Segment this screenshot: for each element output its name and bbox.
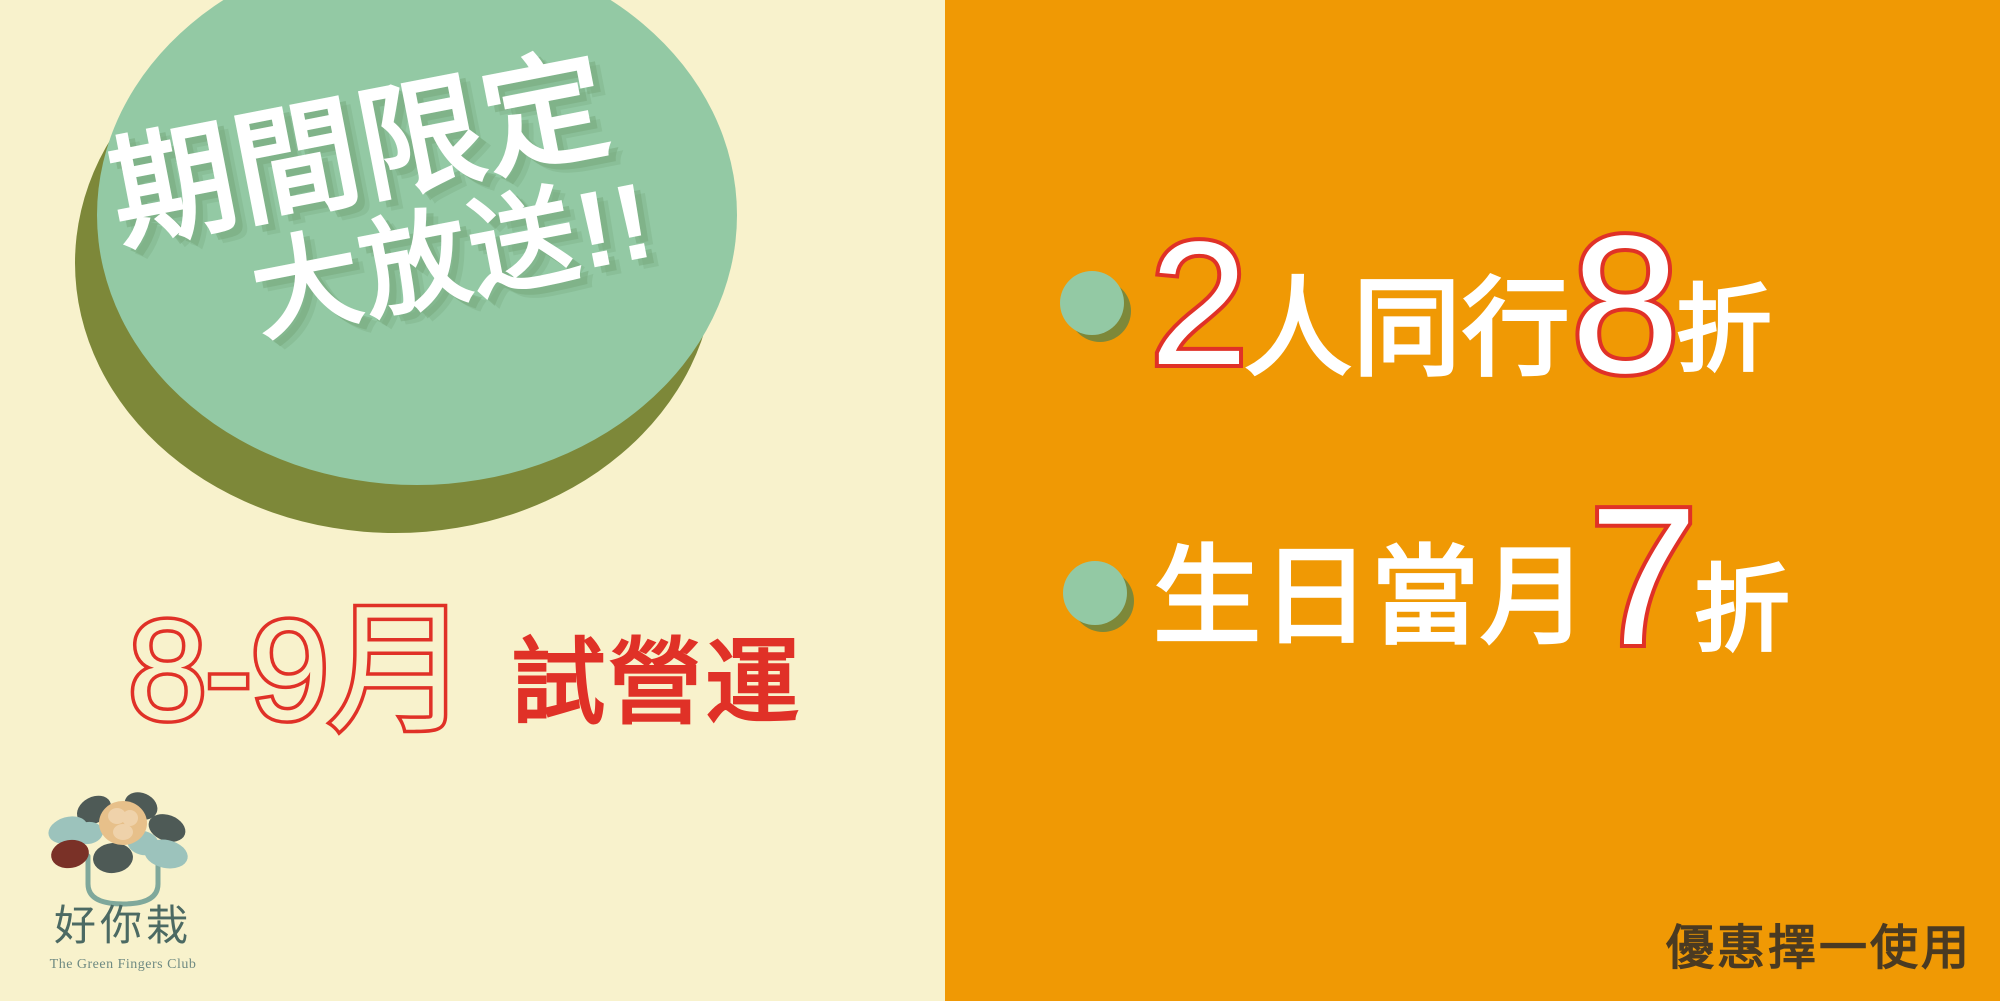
promotional-banner: 期間限定 大放送!! 8-9月 試營運 bbox=[0, 0, 2000, 1001]
circle-badge: 期間限定 大放送!! bbox=[75, 0, 755, 535]
offer-list: 2 人同行 8 折 生日當月 7 折 bbox=[945, 215, 2000, 686]
offer-item-group-discount: 2 人同行 8 折 bbox=[1060, 215, 2000, 395]
logo-english-name: The Green Fingers Club bbox=[28, 958, 218, 972]
left-panel: 期間限定 大放送!! 8-9月 試營運 bbox=[0, 0, 945, 1001]
offer-1-quantity: 2 bbox=[1150, 224, 1244, 386]
date-range-text: 8-9月 bbox=[128, 600, 467, 742]
succulent-plant-icon bbox=[28, 788, 218, 914]
bullet-circle bbox=[1063, 561, 1127, 625]
offer-1-unit: 折 bbox=[1676, 283, 1773, 379]
brand-logo: 好你栽 The Green Fingers Club bbox=[28, 788, 218, 984]
logo-chinese-name: 好你栽 bbox=[28, 906, 218, 948]
date-caption-text: 試營運 bbox=[511, 636, 802, 742]
offer-1-discount: 8 bbox=[1571, 215, 1676, 395]
offer-2-label: 生日當月 bbox=[1153, 543, 1589, 651]
offer-2-discount: 7 bbox=[1589, 487, 1694, 667]
offer-1-label: 人同行 bbox=[1244, 275, 1571, 383]
bullet-circle bbox=[1060, 271, 1124, 335]
offer-item-birthday-discount: 生日當月 7 折 bbox=[1063, 505, 2000, 685]
offer-2-unit: 折 bbox=[1694, 563, 1791, 659]
offer-footnote: 優惠擇一使用 bbox=[1666, 925, 1972, 973]
bullet-dot-icon bbox=[1060, 271, 1128, 339]
trial-period-row: 8-9月 試營運 bbox=[128, 600, 802, 742]
right-panel: 2 人同行 8 折 生日當月 7 折 優惠擇一使用 bbox=[945, 0, 2000, 1001]
bullet-dot-icon bbox=[1063, 561, 1131, 629]
